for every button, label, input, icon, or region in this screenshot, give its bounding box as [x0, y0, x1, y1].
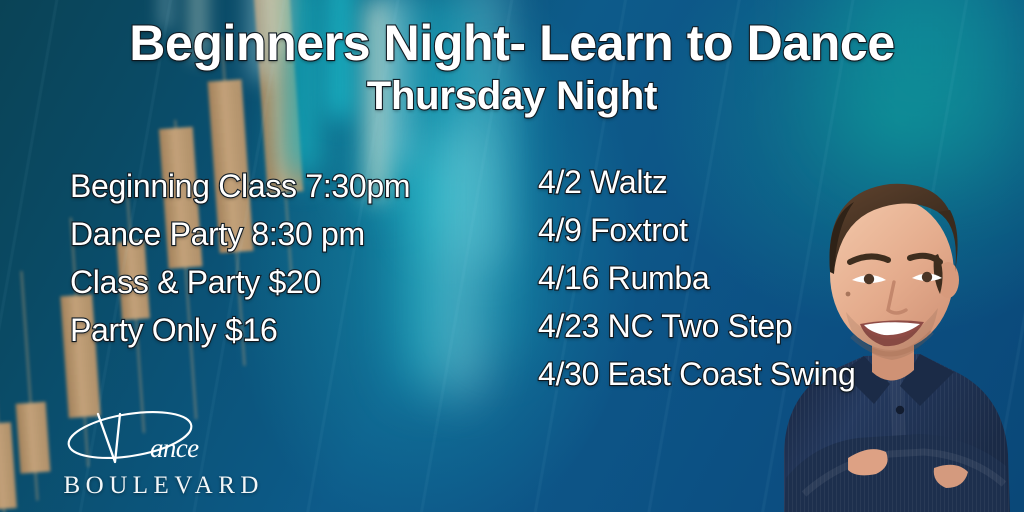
list-item: Class & Party $20	[70, 258, 410, 306]
list-item: Party Only $16	[70, 306, 410, 354]
logo-wordmark: BOULEVARD	[58, 472, 248, 500]
list-item: 4/16 Rumba	[538, 254, 855, 302]
class-details-list: Beginning Class 7:30pm Dance Party 8:30 …	[70, 162, 410, 354]
list-item: 4/23 NC Two Step	[538, 302, 855, 350]
list-item: Beginning Class 7:30pm	[70, 162, 410, 210]
dance-schedule-list: 4/2 Waltz 4/9 Foxtrot 4/16 Rumba 4/23 NC…	[538, 158, 855, 398]
dance-boulevard-logo: ance BOULEVARD	[58, 410, 248, 502]
logo-script-mark: ance	[58, 410, 248, 472]
page-title: Beginners Night- Learn to Dance	[0, 14, 1024, 72]
flyer-canvas: Beginners Night- Learn to Dance Thursday…	[0, 0, 1024, 512]
list-item: 4/9 Foxtrot	[538, 206, 855, 254]
list-item: 4/30 East Coast Swing	[538, 350, 855, 398]
list-item: Dance Party 8:30 pm	[70, 210, 410, 258]
list-item: 4/2 Waltz	[538, 158, 855, 206]
page-subtitle: Thursday Night	[0, 72, 1024, 120]
svg-text:ance: ance	[150, 433, 199, 463]
